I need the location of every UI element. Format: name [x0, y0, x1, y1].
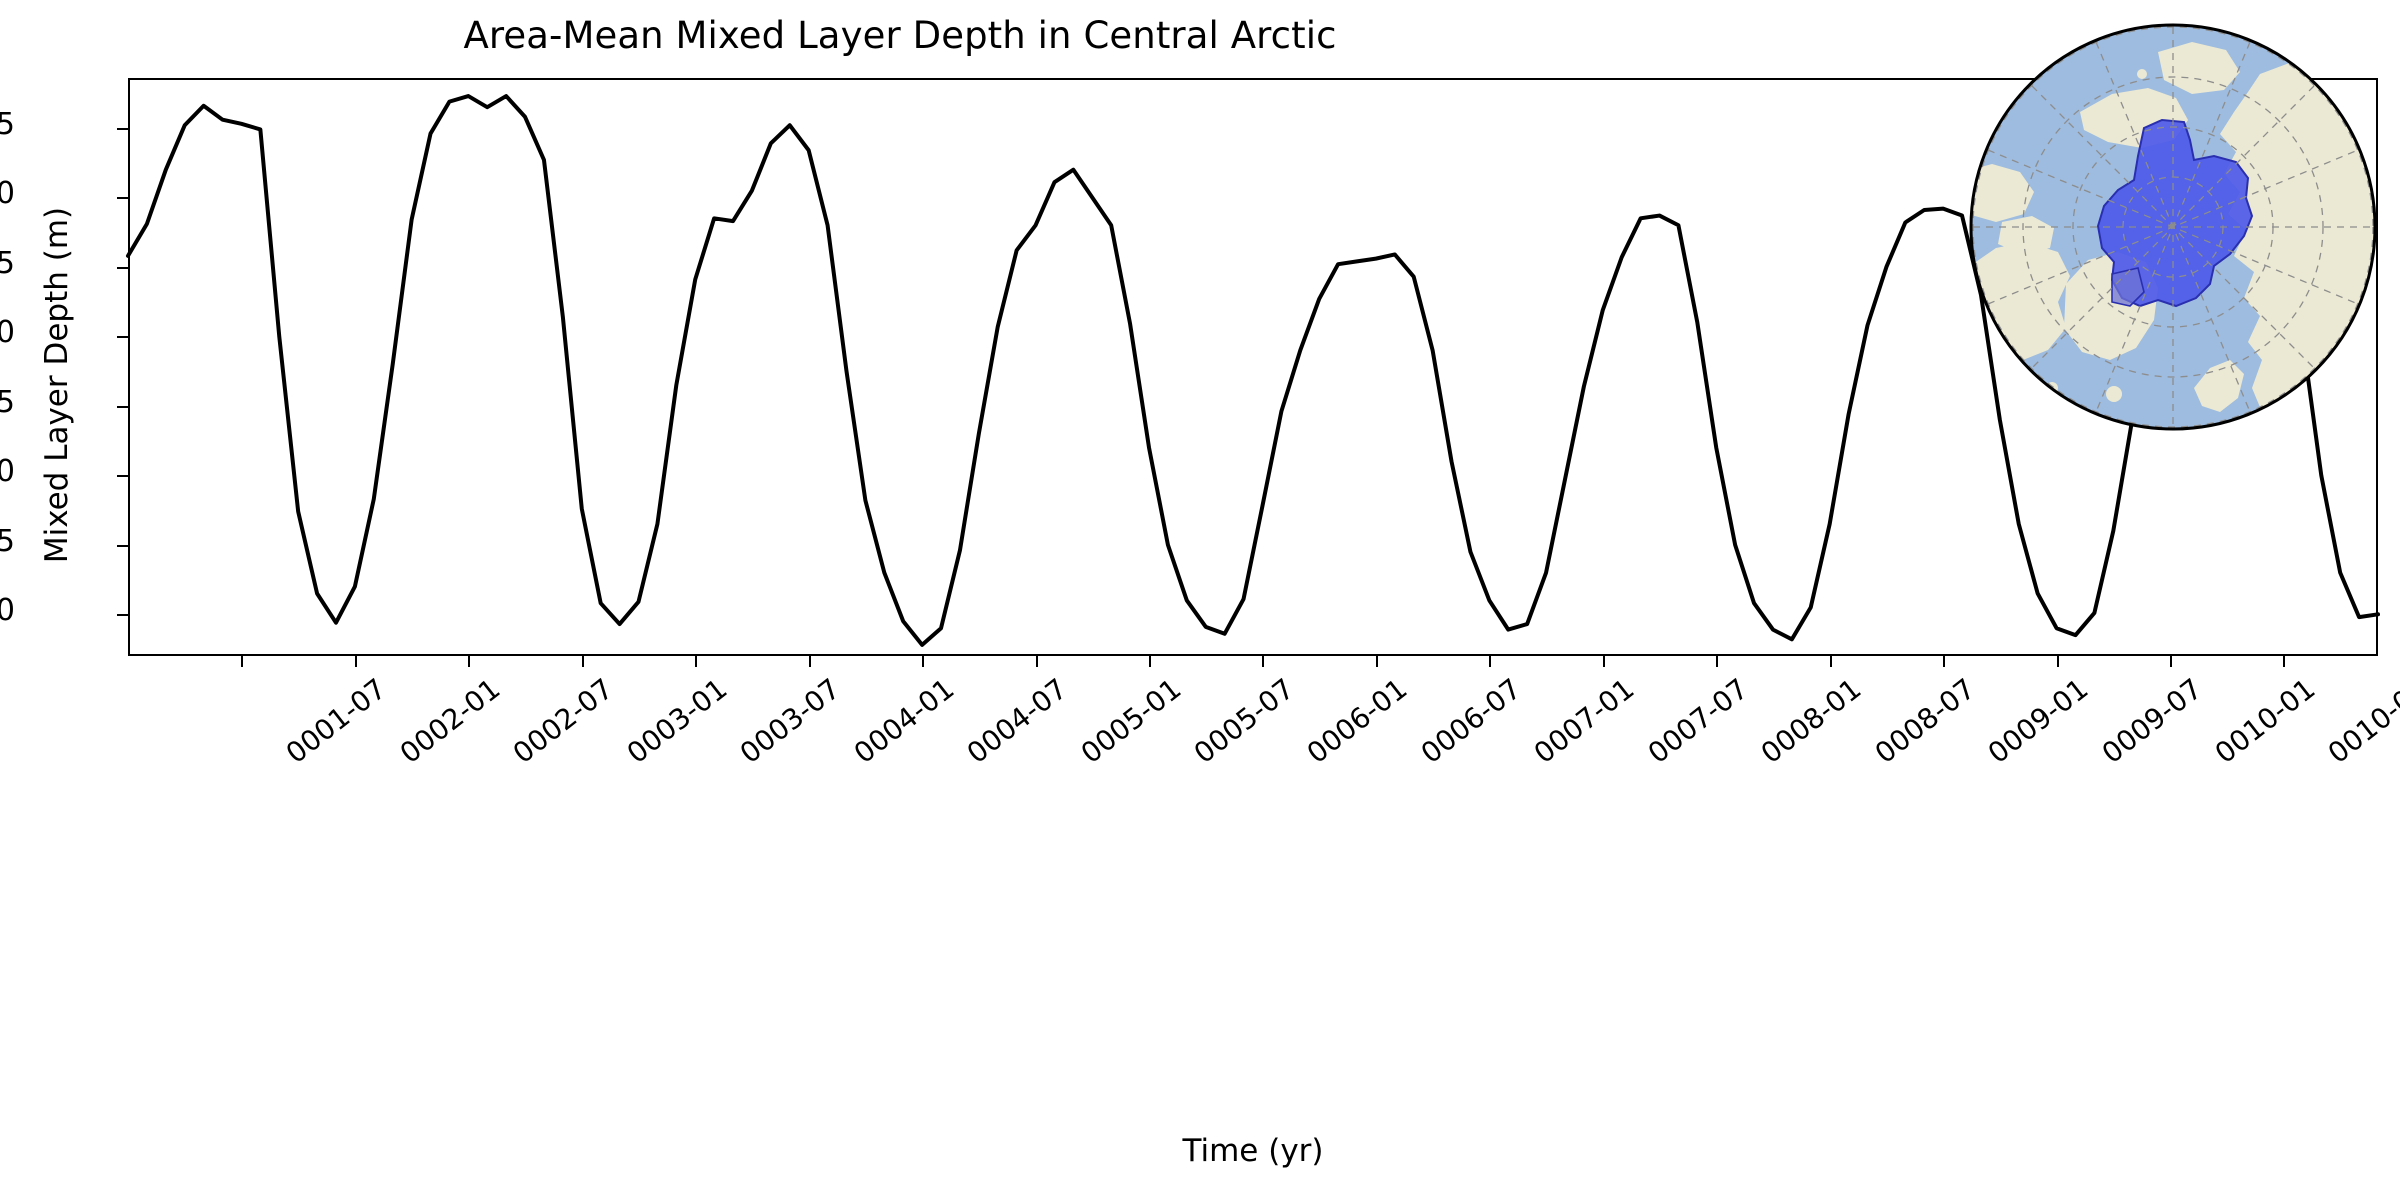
x-tick-mark: [1262, 656, 1264, 667]
x-tick-label: 0006-01: [1301, 672, 1414, 770]
x-tick-label: 0003-07: [734, 672, 847, 770]
x-tick-mark: [1376, 656, 1378, 667]
x-tick-label: 0010-01: [2209, 672, 2322, 770]
x-tick-label: 0007-07: [1642, 672, 1755, 770]
y-tick-label: 25: [0, 388, 15, 418]
x-tick-mark: [468, 656, 470, 667]
x-tick-mark: [2057, 656, 2059, 667]
x-tick-mark: [1489, 656, 1491, 667]
y-tick-mark: [117, 614, 128, 616]
x-tick-mark: [1149, 656, 1151, 667]
x-tick-label: 0010-07: [2322, 672, 2400, 770]
y-tick-label: 40: [0, 179, 15, 209]
x-tick-label: 0004-01: [847, 672, 960, 770]
x-tick-label: 0002-01: [394, 672, 507, 770]
x-tick-mark: [922, 656, 924, 667]
y-tick-mark: [117, 545, 128, 547]
x-tick-mark: [695, 656, 697, 667]
x-tick-label: 0003-01: [621, 672, 734, 770]
y-tick-mark: [117, 267, 128, 269]
x-tick-mark: [1716, 656, 1718, 667]
x-axis-label: Time (yr): [128, 1133, 2378, 1169]
y-tick-label: 45: [0, 110, 15, 140]
y-tick-label: 10: [0, 596, 15, 626]
y-tick-mark: [117, 336, 128, 338]
x-tick-label: 0009-01: [1982, 672, 2095, 770]
y-tick-label: 20: [0, 457, 15, 487]
x-tick-label: 0002-07: [507, 672, 620, 770]
y-tick-mark: [117, 475, 128, 477]
x-tick-label: 0005-01: [1074, 672, 1187, 770]
x-tick-label: 0006-07: [1415, 672, 1528, 770]
x-tick-mark: [241, 656, 243, 667]
x-tick-mark: [809, 656, 811, 667]
x-tick-label: 0007-01: [1528, 672, 1641, 770]
x-tick-label: 0008-01: [1755, 672, 1868, 770]
x-tick-mark: [1036, 656, 1038, 667]
x-tick-mark: [1603, 656, 1605, 667]
x-tick-label: 0008-07: [1868, 672, 1981, 770]
x-tick-mark: [2283, 656, 2285, 667]
figure-canvas: Area-Mean Mixed Layer Depth in Central A…: [0, 0, 2400, 1200]
y-tick-mark: [117, 128, 128, 130]
page-title: Area-Mean Mixed Layer Depth in Central A…: [0, 14, 1800, 57]
x-tick-mark: [2170, 656, 2172, 667]
y-tick-label: 15: [0, 527, 15, 557]
x-tick-label: 0004-07: [961, 672, 1074, 770]
polar-inset-map: [1962, 16, 2384, 438]
y-tick-label: 30: [0, 318, 15, 348]
y-tick-label: 35: [0, 249, 15, 279]
x-tick-mark: [1943, 656, 1945, 667]
x-tick-label: 0005-07: [1188, 672, 1301, 770]
x-tick-mark: [582, 656, 584, 667]
x-tick-mark: [355, 656, 357, 667]
y-tick-mark: [117, 406, 128, 408]
x-tick-label: 0009-07: [2095, 672, 2208, 770]
x-tick-label: 0001-07: [280, 672, 393, 770]
y-axis-label: Mixed Layer Depth (m): [39, 85, 75, 685]
x-tick-mark: [1830, 656, 1832, 667]
y-tick-mark: [117, 197, 128, 199]
